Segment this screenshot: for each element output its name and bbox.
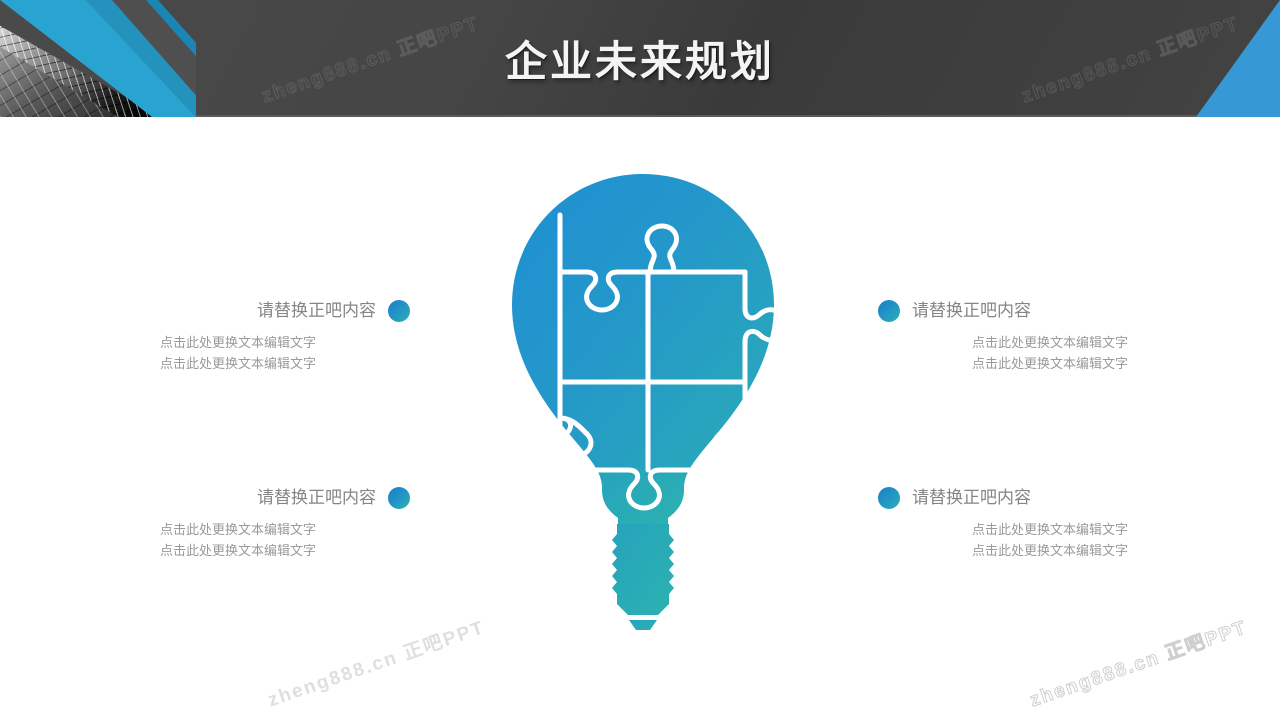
watermark: zheng888.cn 正吧PPT bbox=[1026, 612, 1251, 712]
bullet-dot-icon bbox=[878, 300, 900, 322]
block-body-line: 点击此处更换文本编辑文字 bbox=[878, 519, 1128, 540]
block-body-line: 点击此处更换文本编辑文字 bbox=[160, 519, 410, 540]
block-body: 点击此处更换文本编辑文字 点击此处更换文本编辑文字 bbox=[878, 519, 1128, 561]
bullet-dot-icon bbox=[388, 300, 410, 322]
block-body-line: 点击此处更换文本编辑文字 bbox=[878, 353, 1128, 374]
block-body-line: 点击此处更换文本编辑文字 bbox=[878, 540, 1128, 561]
block-heading-row: 请替换正吧内容 bbox=[878, 487, 1128, 509]
block-heading: 请替换正吧内容 bbox=[257, 300, 376, 322]
bulb-glass bbox=[512, 174, 774, 488]
bullet-dot-icon bbox=[388, 487, 410, 509]
block-heading-row: 请替换正吧内容 bbox=[160, 487, 410, 509]
block-body-line: 点击此处更换文本编辑文字 bbox=[160, 540, 410, 561]
block-body: 点击此处更换文本编辑文字 点击此处更换文本编辑文字 bbox=[160, 332, 410, 374]
text-block-top-right[interactable]: 请替换正吧内容 点击此处更换文本编辑文字 点击此处更换文本编辑文字 bbox=[878, 300, 1128, 374]
block-body-line: 点击此处更换文本编辑文字 bbox=[160, 332, 410, 353]
block-heading: 请替换正吧内容 bbox=[912, 487, 1031, 509]
block-heading: 请替换正吧内容 bbox=[257, 487, 376, 509]
bullet-dot-icon bbox=[878, 487, 900, 509]
slide-canvas: 企业未来规划 bbox=[0, 0, 1280, 720]
block-body-line: 点击此处更换文本编辑文字 bbox=[878, 332, 1128, 353]
block-heading-row: 请替换正吧内容 bbox=[160, 300, 410, 322]
lightbulb-svg bbox=[498, 168, 788, 648]
page-title: 企业未来规划 bbox=[0, 0, 1280, 117]
text-block-bottom-right[interactable]: 请替换正吧内容 点击此处更换文本编辑文字 点击此处更换文本编辑文字 bbox=[878, 487, 1128, 561]
block-heading-row: 请替换正吧内容 bbox=[878, 300, 1128, 322]
lightbulb-puzzle-diagram bbox=[498, 168, 788, 648]
block-heading: 请替换正吧内容 bbox=[912, 300, 1031, 322]
text-block-bottom-left[interactable]: 请替换正吧内容 点击此处更换文本编辑文字 点击此处更换文本编辑文字 bbox=[160, 487, 410, 561]
bulb-screw-base bbox=[602, 468, 684, 630]
block-body: 点击此处更换文本编辑文字 点击此处更换文本编辑文字 bbox=[160, 519, 410, 561]
watermark: zheng888.cn 正吧PPT bbox=[264, 612, 489, 712]
block-body: 点击此处更换文本编辑文字 点击此处更换文本编辑文字 bbox=[878, 332, 1128, 374]
text-block-top-left[interactable]: 请替换正吧内容 点击此处更换文本编辑文字 点击此处更换文本编辑文字 bbox=[160, 300, 410, 374]
block-body-line: 点击此处更换文本编辑文字 bbox=[160, 353, 410, 374]
